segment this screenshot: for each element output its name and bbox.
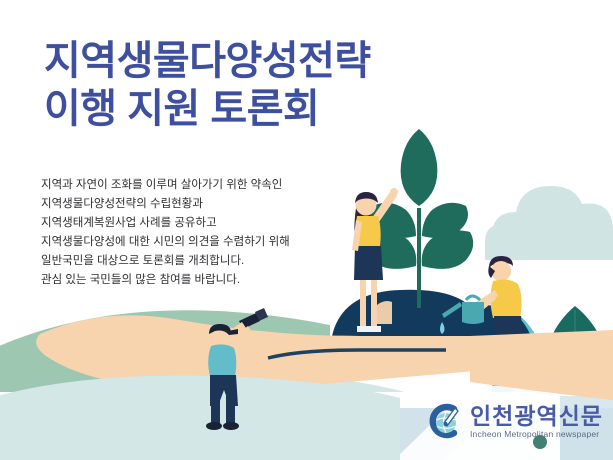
globe-pen-circle-icon <box>424 401 464 441</box>
logo-korean-name: 인천광역신문 <box>470 404 603 428</box>
body-line-4: 지역생물다양성에 대한 시민의 의견을 수렴하기 위해 <box>41 233 371 252</box>
body-line-3: 지역생태계복원사업 사례를 공유하고 <box>41 214 371 233</box>
title-line-2: 이행 지원 토론회 <box>44 85 564 133</box>
publisher-logo: 인천광역신문 Incheon Metropolitan newspaper <box>424 401 603 441</box>
body-line-2: 지역생물다양성전략의 수립현황과 <box>41 195 371 214</box>
poster-canvas: 지역생물다양성전략 이행 지원 토론회 지역과 자연이 조화를 이루며 살아가기… <box>0 0 613 460</box>
logo-english-name: Incheon Metropolitan newspaper <box>470 429 603 440</box>
hill-mint-front <box>0 375 400 460</box>
body-line-6: 관심 있는 국민들의 많은 참여를 바랍니다. <box>41 271 371 290</box>
poster-title: 지역생물다양성전략 이행 지원 토론회 <box>44 37 564 133</box>
title-line-1: 지역생물다양성전략 <box>44 37 564 85</box>
logo-text-group: 인천광역신문 Incheon Metropolitan newspaper <box>470 402 603 440</box>
poster-body-text: 지역과 자연이 조화를 이루며 살아가기 위한 약속인 지역생물다양성전략의 수… <box>41 176 371 290</box>
body-line-5: 일반국민을 대상으로 토론회를 개최합니다. <box>41 252 371 271</box>
body-line-1: 지역과 자연이 조화를 이루며 살아가기 위한 약속인 <box>41 176 371 195</box>
